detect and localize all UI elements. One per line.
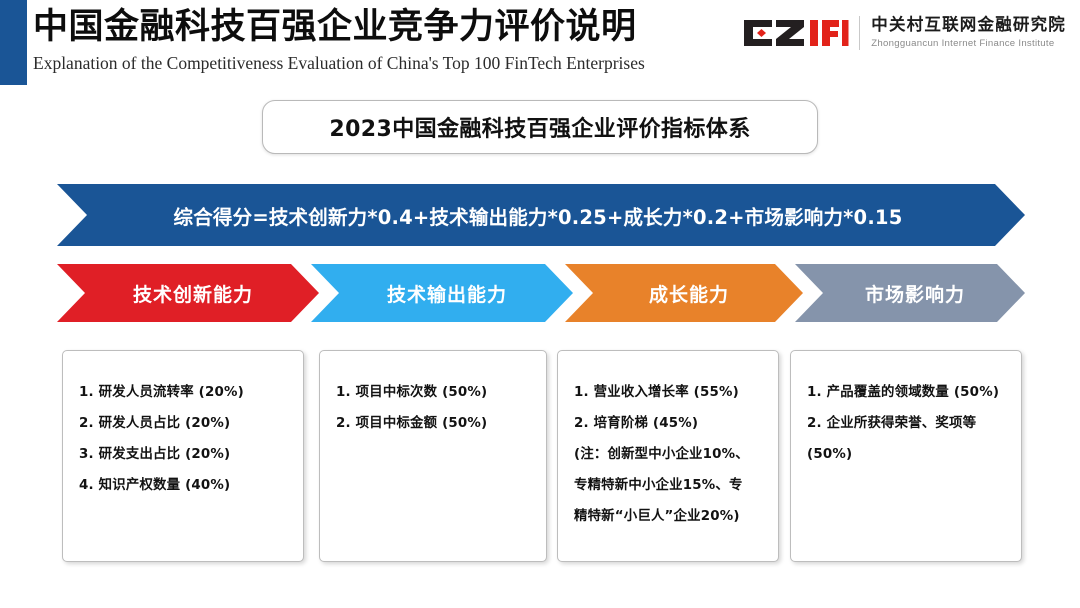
dimension-chevron-label: 技术创新能力 <box>123 280 253 307</box>
logo-name-en: Zhongguancun Internet Finance Institute <box>871 39 1066 49</box>
indicator-box-3: 1. 营业收入增长率 (55%)2. 培育阶梯 (45%)(注：创新型中小企业1… <box>557 350 779 562</box>
dimension-chevron-label: 技术输出能力 <box>377 280 507 307</box>
dimension-chevron-label: 成长能力 <box>639 280 729 307</box>
page-subtitle: Explanation of the Competitiveness Evalu… <box>33 51 713 75</box>
indicator-box-2: 1. 项目中标次数 (50%)2. 项目中标金额 (50%) <box>319 350 547 562</box>
framework-title-text: 2023中国金融科技百强企业评价指标体系 <box>329 111 750 143</box>
dimension-chevron-4[interactable]: 市场影响力 <box>795 264 1025 322</box>
dimension-chevron-3[interactable]: 成长能力 <box>565 264 803 322</box>
header-text-block: 中国金融科技百强企业竞争力评价说明 Explanation of the Com… <box>33 4 713 75</box>
indicator-line: 1. 研发人员流转率 (20%) <box>79 377 289 408</box>
indicator-line: 2. 研发人员占比 (20%) <box>79 408 289 439</box>
framework-title-box: 2023中国金融科技百强企业评价指标体系 <box>262 100 818 154</box>
indicator-line: (注：创新型中小企业10%、 <box>574 439 764 470</box>
dimension-chevron-1[interactable]: 技术创新能力 <box>57 264 319 322</box>
page-header: 中国金融科技百强企业竞争力评价说明 Explanation of the Com… <box>0 0 1080 88</box>
logo-name-cn: 中关村互联网金融研究院 <box>871 17 1066 34</box>
indicator-line: 专精特新中小企业15%、专 <box>574 470 764 501</box>
organization-logo: 中关村互联网金融研究院 Zhongguancun Internet Financ… <box>742 11 1066 55</box>
indicator-line: 1. 营业收入增长率 (55%) <box>574 377 764 408</box>
logo-divider <box>859 16 860 50</box>
score-formula-banner: 综合得分=技术创新力*0.4+技术输出能力*0.25+成长力*0.2+市场影响力… <box>57 184 1025 246</box>
indicator-line: 2. 项目中标金额 (50%) <box>336 408 532 439</box>
indicator-box-4: 1. 产品覆盖的领域数量 (50%)2. 企业所获得荣誉、奖项等(50%) <box>790 350 1022 562</box>
indicator-line: (50%) <box>807 439 1007 470</box>
indicator-line: 1. 项目中标次数 (50%) <box>336 377 532 408</box>
indicator-line: 4. 知识产权数量 (40%) <box>79 470 289 501</box>
page-title: 中国金融科技百强企业竞争力评价说明 <box>33 4 713 50</box>
score-formula-text: 综合得分=技术创新力*0.4+技术输出能力*0.25+成长力*0.2+市场影响力… <box>174 201 909 230</box>
dimension-chevron-label: 市场影响力 <box>855 280 965 307</box>
indicator-box-1: 1. 研发人员流转率 (20%)2. 研发人员占比 (20%)3. 研发支出占比… <box>62 350 304 562</box>
dimension-chevron-row: 技术创新能力技术输出能力成长能力市场影响力 <box>0 264 1080 322</box>
indicator-line: 1. 产品覆盖的领域数量 (50%) <box>807 377 1007 408</box>
indicator-line: 2. 培育阶梯 (45%) <box>574 408 764 439</box>
dimension-chevron-2[interactable]: 技术输出能力 <box>311 264 573 322</box>
indicator-line: 3. 研发支出占比 (20%) <box>79 439 289 470</box>
header-accent-bar <box>0 0 27 85</box>
indicator-line: 精特新“小巨人”企业20%) <box>574 501 764 532</box>
czifi-logo-icon <box>742 17 850 49</box>
logo-wordmark: 中关村互联网金融研究院 Zhongguancun Internet Financ… <box>871 17 1066 48</box>
indicator-line: 2. 企业所获得荣誉、奖项等 <box>807 408 1007 439</box>
